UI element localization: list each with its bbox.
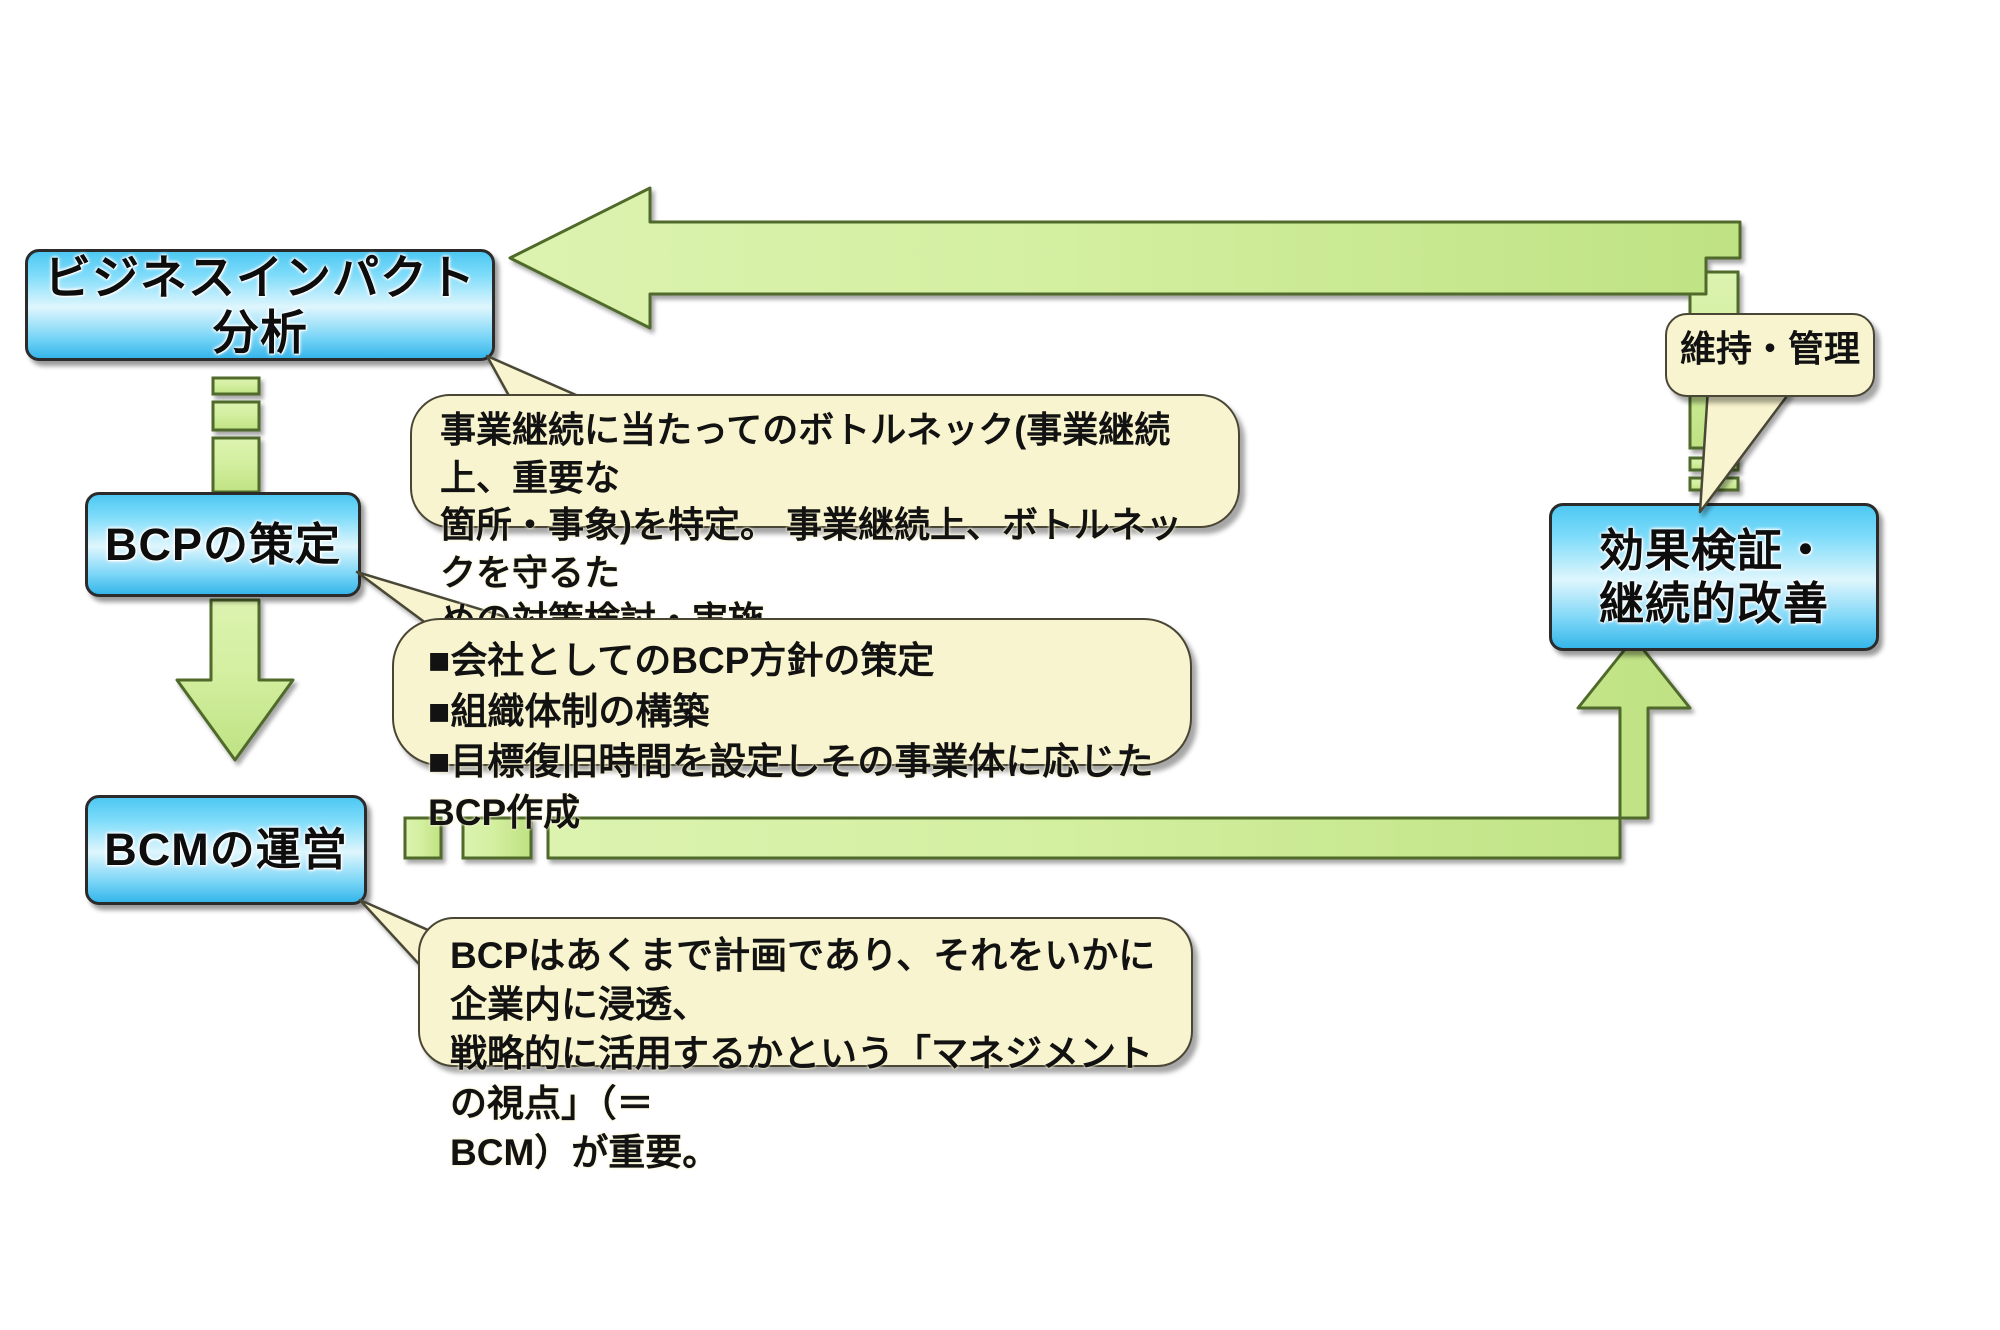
callout-text: ■会社としてのBCP方針の策定 ■組織体制の構築 ■目標復旧時間を設定しその事業…	[394, 620, 1190, 764]
callout-bcp-note: ■会社としてのBCP方針の策定 ■組織体制の構築 ■目標復旧時間を設定しその事業…	[392, 618, 1192, 766]
callout-text: 維持・管理	[1667, 315, 1873, 395]
callout-maintenance-note: 維持・管理	[1665, 313, 1875, 397]
callout-text: BCPはあくまで計画であり、それをいかに企業内に浸透、 戦略的に活用するかという…	[420, 919, 1191, 1065]
callout-text: 事業継続に当たってのボトルネック(事業継続上、重要な 箇所・事象)を特定。 事業…	[412, 396, 1238, 526]
tail-maintenance-note	[1700, 388, 1790, 512]
diagram-canvas: ビジネスインパクト分析 BCPの策定 BCMの運営 効果検証・ 継続的改善 事業…	[0, 0, 2000, 1330]
callout-bcm-note: BCPはあくまで計画であり、それをいかに企業内に浸透、 戦略的に活用するかという…	[418, 917, 1193, 1067]
callout-bia-note: 事業継続に当たってのボトルネック(事業継続上、重要な 箇所・事象)を特定。 事業…	[410, 394, 1240, 528]
